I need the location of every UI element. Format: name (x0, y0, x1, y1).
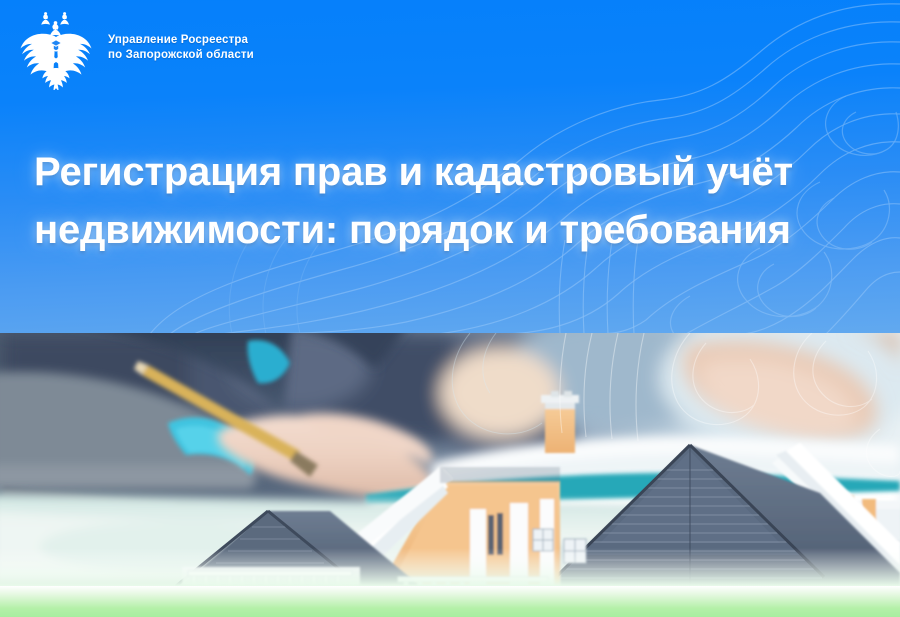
brand-line-1: Управление Росреестра (108, 33, 254, 48)
header-banner: Управление Росреестра по Запорожской обл… (0, 0, 900, 334)
footer-accent-strip (0, 586, 900, 617)
rosreestr-emblem-icon (14, 6, 98, 90)
brand-title: Управление Росреестра по Запорожской обл… (108, 33, 254, 63)
brand-lockup: Управление Росреестра по Запорожской обл… (14, 6, 254, 90)
hero-photo (0, 333, 900, 586)
brand-line-2: по Запорожской области (108, 48, 254, 63)
page-title-line-1: Регистрация прав и кадастровый учёт (34, 143, 874, 201)
poster-root: Управление Росреестра по Запорожской обл… (0, 0, 900, 617)
page-title: Регистрация прав и кадастровый учёт недв… (34, 143, 874, 259)
page-title-line-2: недвижимости: порядок и требования (34, 201, 874, 259)
